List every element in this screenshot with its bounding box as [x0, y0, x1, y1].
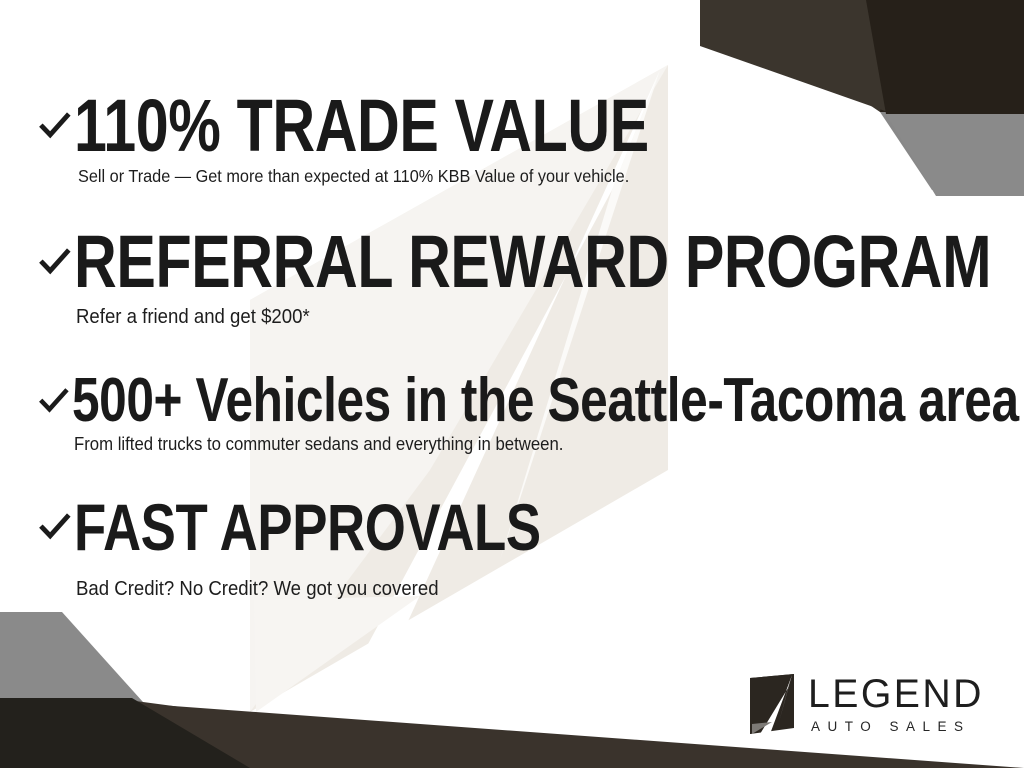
legend-auto-sales-logo: LEGEND AUTO SALES [748, 672, 980, 738]
feature-subtext: Sell or Trade — Get more than expected a… [78, 166, 943, 187]
feature-headline-row: REFERRAL REWARD PROGRAM [38, 228, 1008, 296]
checkmark-icon [38, 245, 72, 279]
checkmark-icon [38, 109, 72, 143]
logo-tagline-text: AUTO SALES [811, 720, 988, 734]
feature-item-trade-value: 110% TRADE VALUE Sell or Trade — Get mor… [38, 92, 1008, 187]
logo-wordmark: LEGEND AUTO SALES [808, 672, 988, 734]
feature-headline-row: FAST APPROVALS [38, 497, 1008, 558]
feature-subtext: Bad Credit? No Credit? We got you covere… [76, 578, 943, 601]
checkmark-icon [38, 510, 72, 544]
feature-item-fast-approvals: FAST APPROVALS Bad Credit? No Credit? We… [38, 497, 1008, 601]
feature-subtext: Refer a friend and get $200* [76, 306, 943, 329]
feature-headline-row: 110% TRADE VALUE [38, 92, 1008, 160]
checkmark-icon [38, 385, 70, 417]
feature-subtext: From lifted trucks to commuter sedans an… [74, 434, 943, 455]
slide-canvas: 110% TRADE VALUE Sell or Trade — Get mor… [0, 0, 1024, 768]
feature-list: 110% TRADE VALUE Sell or Trade — Get mor… [0, 0, 1024, 768]
feature-headline-text: 500+ Vehicles in the Seattle-Tacoma area [72, 372, 1019, 429]
legend-chevron-mark-icon [748, 672, 800, 736]
feature-item-referral-reward: REFERRAL REWARD PROGRAM Refer a friend a… [38, 228, 1008, 329]
feature-headline-text: REFERRAL REWARD PROGRAM [74, 228, 991, 296]
feature-headline-text: 110% TRADE VALUE [74, 92, 649, 160]
feature-item-inventory-count: 500+ Vehicles in the Seattle-Tacoma area… [38, 372, 1008, 455]
feature-headline-text: FAST APPROVALS [74, 497, 541, 558]
feature-headline-row: 500+ Vehicles in the Seattle-Tacoma area [38, 372, 1008, 429]
logo-name-text: LEGEND [808, 674, 984, 714]
